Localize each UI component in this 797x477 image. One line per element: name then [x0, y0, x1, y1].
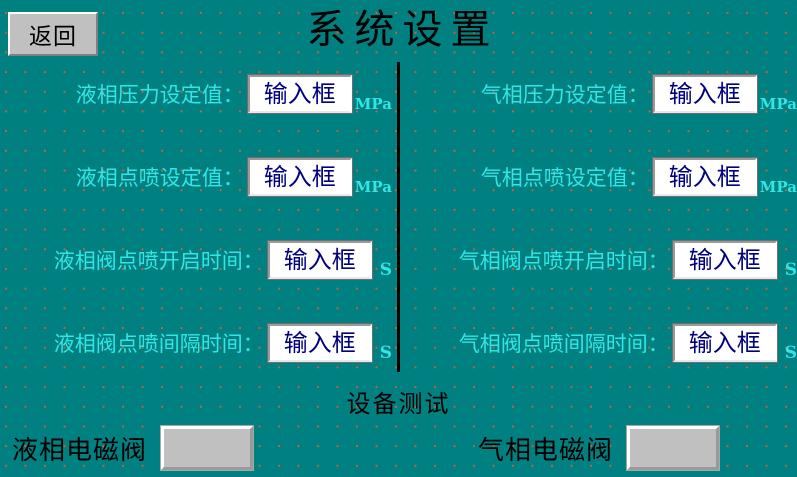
form-row-gas-pressure: 气相压力设定值： 输入框 MPa: [402, 74, 797, 114]
test-item-gas-solenoid-valve: 气相电磁阀: [478, 424, 719, 472]
field-label-liquid-valve-interval-time: 液相阀点喷间隔时间：: [0, 328, 268, 358]
field-label-liquid-pressure: 液相压力设定值：: [0, 79, 248, 109]
field-label-gas-pressure: 气相压力设定值：: [402, 79, 653, 109]
field-label-liquid-spray: 液相点喷设定值：: [0, 162, 248, 192]
field-label-gas-valve-open-time: 气相阀点喷开启时间：: [402, 245, 673, 275]
input-gas-pressure[interactable]: 输入框: [653, 75, 757, 113]
form-row-liquid-valve-interval-time: 液相阀点喷间隔时间： 输入框 S: [0, 323, 392, 363]
column-divider: [397, 62, 400, 372]
equipment-test-heading: 设备测试: [0, 384, 797, 419]
input-gas-valve-open-time[interactable]: 输入框: [673, 241, 777, 279]
page-title: 系统设置: [0, 4, 797, 56]
field-label-gas-spray: 气相点喷设定值：: [402, 162, 653, 192]
input-liquid-pressure[interactable]: 输入框: [248, 75, 352, 113]
test-label-gas-solenoid-valve: 气相电磁阀: [478, 430, 627, 467]
form-row-gas-valve-open-time: 气相阀点喷开启时间： 输入框 S: [402, 240, 797, 280]
unit-liquid-valve-interval-time: S: [372, 343, 392, 363]
system-settings-screen: 返回 系统设置 液相压力设定值： 输入框 MPa 液相点喷设定值： 输入框 MP…: [0, 0, 797, 477]
form-row-liquid-valve-open-time: 液相阀点喷开启时间： 输入框 S: [0, 240, 392, 280]
form-row-liquid-pressure: 液相压力设定值： 输入框 MPa: [0, 74, 392, 114]
input-liquid-valve-open-time[interactable]: 输入框: [268, 241, 372, 279]
test-button-liquid-solenoid-valve[interactable]: [161, 426, 253, 470]
unit-gas-valve-interval-time: S: [777, 343, 797, 363]
unit-gas-valve-open-time: S: [777, 260, 797, 280]
unit-liquid-valve-open-time: S: [372, 260, 392, 280]
input-liquid-spray[interactable]: 输入框: [248, 158, 352, 196]
unit-gas-pressure: MPa: [757, 95, 797, 114]
input-gas-valve-interval-time[interactable]: 输入框: [673, 324, 777, 362]
input-gas-spray[interactable]: 输入框: [653, 158, 757, 196]
form-row-liquid-spray: 液相点喷设定值： 输入框 MPa: [0, 157, 392, 197]
form-row-gas-spray: 气相点喷设定值： 输入框 MPa: [402, 157, 797, 197]
input-liquid-valve-interval-time[interactable]: 输入框: [268, 324, 372, 362]
unit-gas-spray: MPa: [757, 178, 797, 197]
form-row-gas-valve-interval-time: 气相阀点喷间隔时间： 输入框 S: [402, 323, 797, 363]
unit-liquid-spray: MPa: [352, 178, 392, 197]
test-label-liquid-solenoid-valve: 液相电磁阀: [12, 430, 161, 467]
field-label-gas-valve-interval-time: 气相阀点喷间隔时间：: [402, 328, 673, 358]
unit-liquid-pressure: MPa: [352, 95, 392, 114]
field-label-liquid-valve-open-time: 液相阀点喷开启时间：: [0, 245, 268, 275]
test-item-liquid-solenoid-valve: 液相电磁阀: [12, 424, 253, 472]
test-button-gas-solenoid-valve[interactable]: [627, 426, 719, 470]
